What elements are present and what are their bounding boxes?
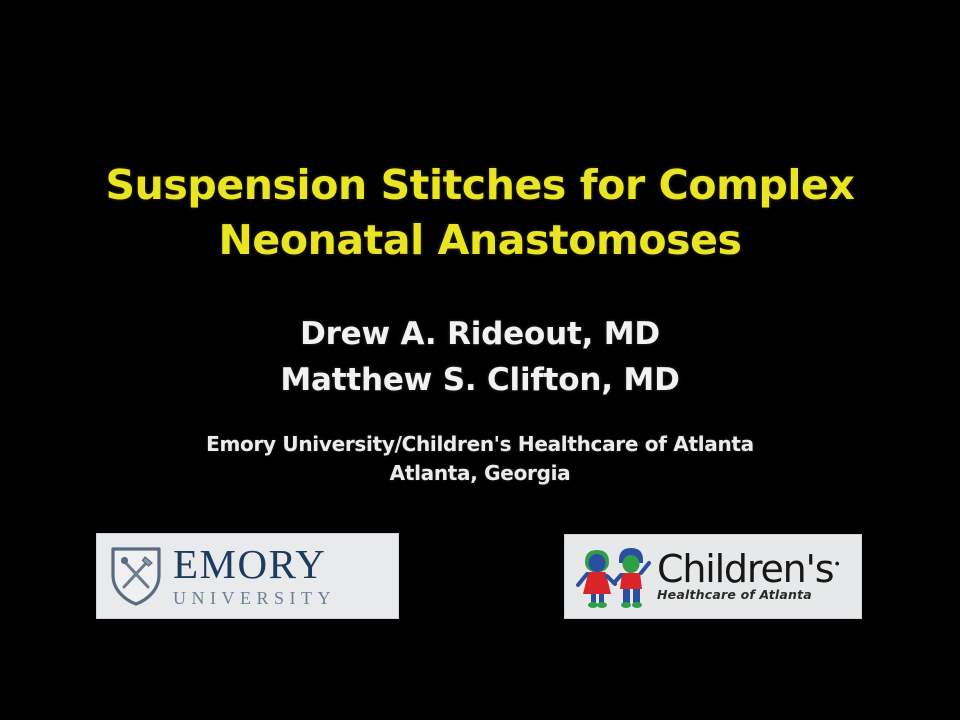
registered-mark-icon: • — [833, 557, 841, 572]
title-slide: Suspension Stitches for Complex Neonatal… — [0, 0, 960, 720]
emory-wordmark: EMORY UNIVERSITY — [173, 545, 388, 607]
presentation-title: Suspension Stitches for Complex Neonatal… — [0, 158, 960, 268]
affiliation: Emory University/Children's Healthcare o… — [0, 430, 960, 488]
title-line-1: Suspension Stitches for Complex — [0, 158, 960, 213]
author-list: Drew A. Rideout, MD Matthew S. Clifton, … — [0, 311, 960, 403]
emory-university-text: UNIVERSITY — [173, 589, 388, 607]
childrens-wordmark: Children's• Healthcare of Atlanta — [657, 552, 853, 601]
author-name-secondary: Matthew S. Clifton, MD — [0, 357, 960, 403]
shield-crossed-torch-trumpet-icon — [109, 545, 163, 607]
affiliation-location: Atlanta, Georgia — [0, 459, 960, 488]
childrens-name-text: Children's• — [657, 552, 853, 587]
childrens-name-label: Children's — [657, 547, 833, 591]
two-children-holding-hands-icon — [575, 544, 653, 610]
childrens-healthcare-logo: Children's• Healthcare of Atlanta — [564, 534, 862, 619]
emory-university-logo: EMORY UNIVERSITY — [96, 533, 399, 619]
affiliation-institution: Emory University/Children's Healthcare o… — [0, 430, 960, 459]
author-name-primary: Drew A. Rideout, MD — [0, 311, 960, 357]
title-line-2: Neonatal Anastomoses — [0, 213, 960, 268]
emory-name-text: EMORY — [173, 545, 388, 584]
